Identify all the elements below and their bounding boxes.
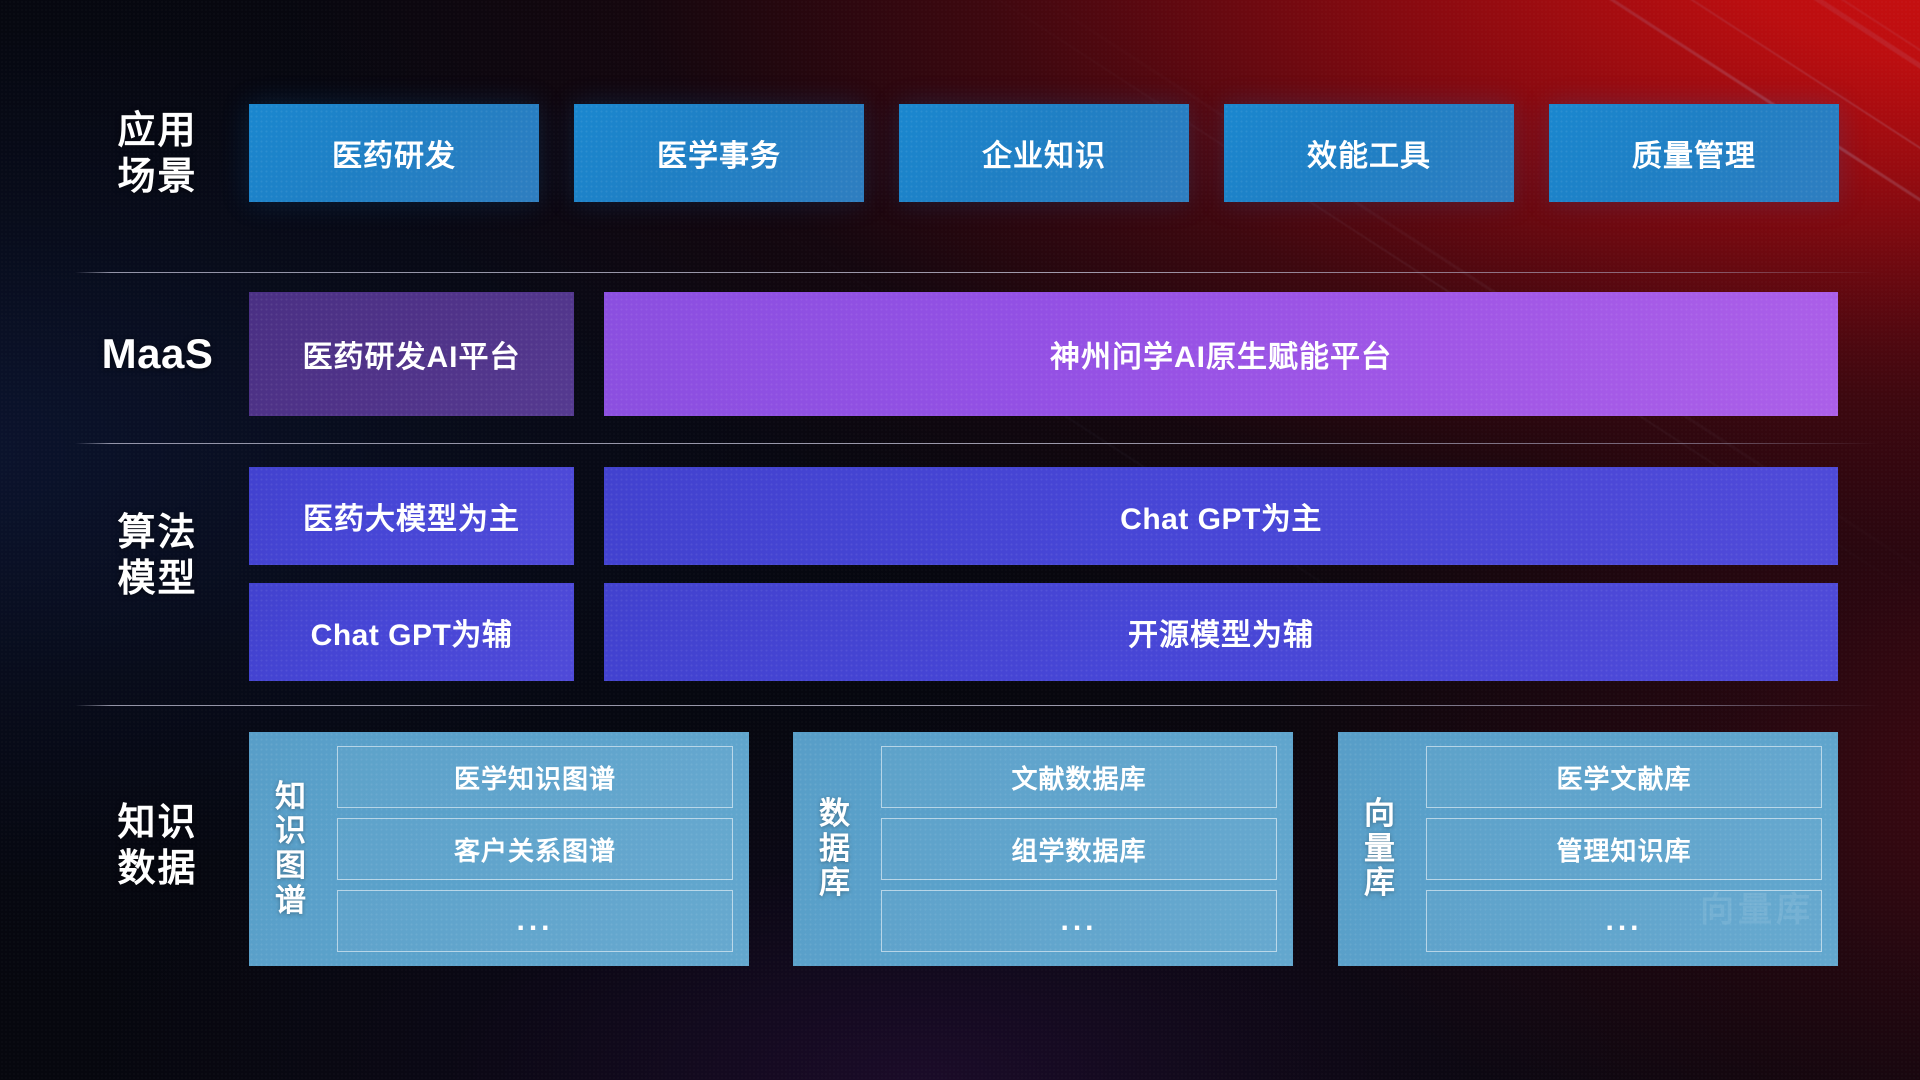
row-label-algorithm-model: 算法 模型 xyxy=(75,510,240,603)
algo-card-label: 开源模型为辅 xyxy=(1128,610,1314,654)
scenario-card-quality-management[interactable]: 质量管理 xyxy=(1549,104,1839,202)
knowledge-item[interactable]: 文献数据库 xyxy=(881,746,1277,808)
knowledge-group-title: 数据库 xyxy=(807,797,863,901)
knowledge-group-knowledge-graph[interactable]: 知识图谱 医学知识图谱 客户关系图谱 ... xyxy=(249,732,749,966)
divider-after-maas xyxy=(75,443,1880,444)
architecture-diagram-canvas: 应用 场景 MaaS 算法 模型 知识 数据 医药研发 医学事务 企业知识 效能… xyxy=(0,0,1920,1080)
algo-card-chatgpt-secondary[interactable]: Chat GPT为辅 xyxy=(249,583,574,681)
row-label-application-scenarios: 应用 场景 xyxy=(75,108,240,201)
knowledge-item[interactable]: 管理知识库 xyxy=(1426,818,1822,880)
algo-card-label: 医药大模型为主 xyxy=(303,494,520,538)
knowledge-item[interactable]: 组学数据库 xyxy=(881,818,1277,880)
scenario-card-label: 医药研发 xyxy=(332,131,456,175)
scenario-card-efficiency-tools[interactable]: 效能工具 xyxy=(1224,104,1514,202)
scenario-card-enterprise-knowledge[interactable]: 企业知识 xyxy=(899,104,1189,202)
knowledge-item-more[interactable]: ... xyxy=(337,890,733,952)
knowledge-item[interactable]: 医学文献库 xyxy=(1426,746,1822,808)
knowledge-item[interactable]: 客户关系图谱 xyxy=(337,818,733,880)
row-label-maas: MaaS xyxy=(75,328,240,379)
row-label-line: 场景 xyxy=(75,154,240,200)
algo-card-chatgpt-primary[interactable]: Chat GPT为主 xyxy=(604,467,1838,565)
knowledge-item[interactable]: 医学知识图谱 xyxy=(337,746,733,808)
algo-card-pharma-llm-primary[interactable]: 医药大模型为主 xyxy=(249,467,574,565)
row-label-line: 数据 xyxy=(75,846,240,892)
row-label-line: 应用 xyxy=(75,108,240,154)
scenario-card-label: 效能工具 xyxy=(1307,131,1431,175)
maas-card-shenzhou-wenxue-platform[interactable]: 神州问学AI原生赋能平台 xyxy=(604,292,1838,416)
knowledge-group-title: 向量库 xyxy=(1352,797,1408,901)
knowledge-group-vector-store[interactable]: 向量库 医学文献库 管理知识库 ... xyxy=(1338,732,1838,966)
scenario-card-label: 质量管理 xyxy=(1632,131,1756,175)
knowledge-group-item-list: 文献数据库 组学数据库 ... xyxy=(881,746,1277,952)
knowledge-item-more[interactable]: ... xyxy=(1426,890,1822,952)
knowledge-group-item-list: 医学文献库 管理知识库 ... xyxy=(1426,746,1822,952)
maas-card-label: 神州问学AI原生赋能平台 xyxy=(1050,332,1392,376)
row-label-line: 模型 xyxy=(75,556,240,602)
divider-after-scenarios xyxy=(75,272,1880,273)
scenario-card-label: 医学事务 xyxy=(657,131,781,175)
scenario-card-medicine-rd[interactable]: 医药研发 xyxy=(249,104,539,202)
knowledge-group-database[interactable]: 数据库 文献数据库 组学数据库 ... xyxy=(793,732,1293,966)
algo-card-label: Chat GPT为主 xyxy=(1120,494,1322,538)
row-label-knowledge-data: 知识 数据 xyxy=(75,800,240,893)
row-label-line: 算法 xyxy=(75,510,240,556)
maas-card-label: 医药研发AI平台 xyxy=(303,332,521,376)
divider-after-algorithm xyxy=(75,705,1880,706)
knowledge-group-item-list: 医学知识图谱 客户关系图谱 ... xyxy=(337,746,733,952)
scenario-card-medical-affairs[interactable]: 医学事务 xyxy=(574,104,864,202)
row-label-line: MaaS xyxy=(75,328,240,379)
algo-card-label: Chat GPT为辅 xyxy=(311,610,513,654)
maas-card-pharma-ai-platform[interactable]: 医药研发AI平台 xyxy=(249,292,574,416)
knowledge-item-more[interactable]: ... xyxy=(881,890,1277,952)
row-label-line: 知识 xyxy=(75,800,240,846)
algo-card-opensource-secondary[interactable]: 开源模型为辅 xyxy=(604,583,1838,681)
scenario-card-label: 企业知识 xyxy=(982,131,1106,175)
knowledge-group-title: 知识图谱 xyxy=(263,780,319,919)
